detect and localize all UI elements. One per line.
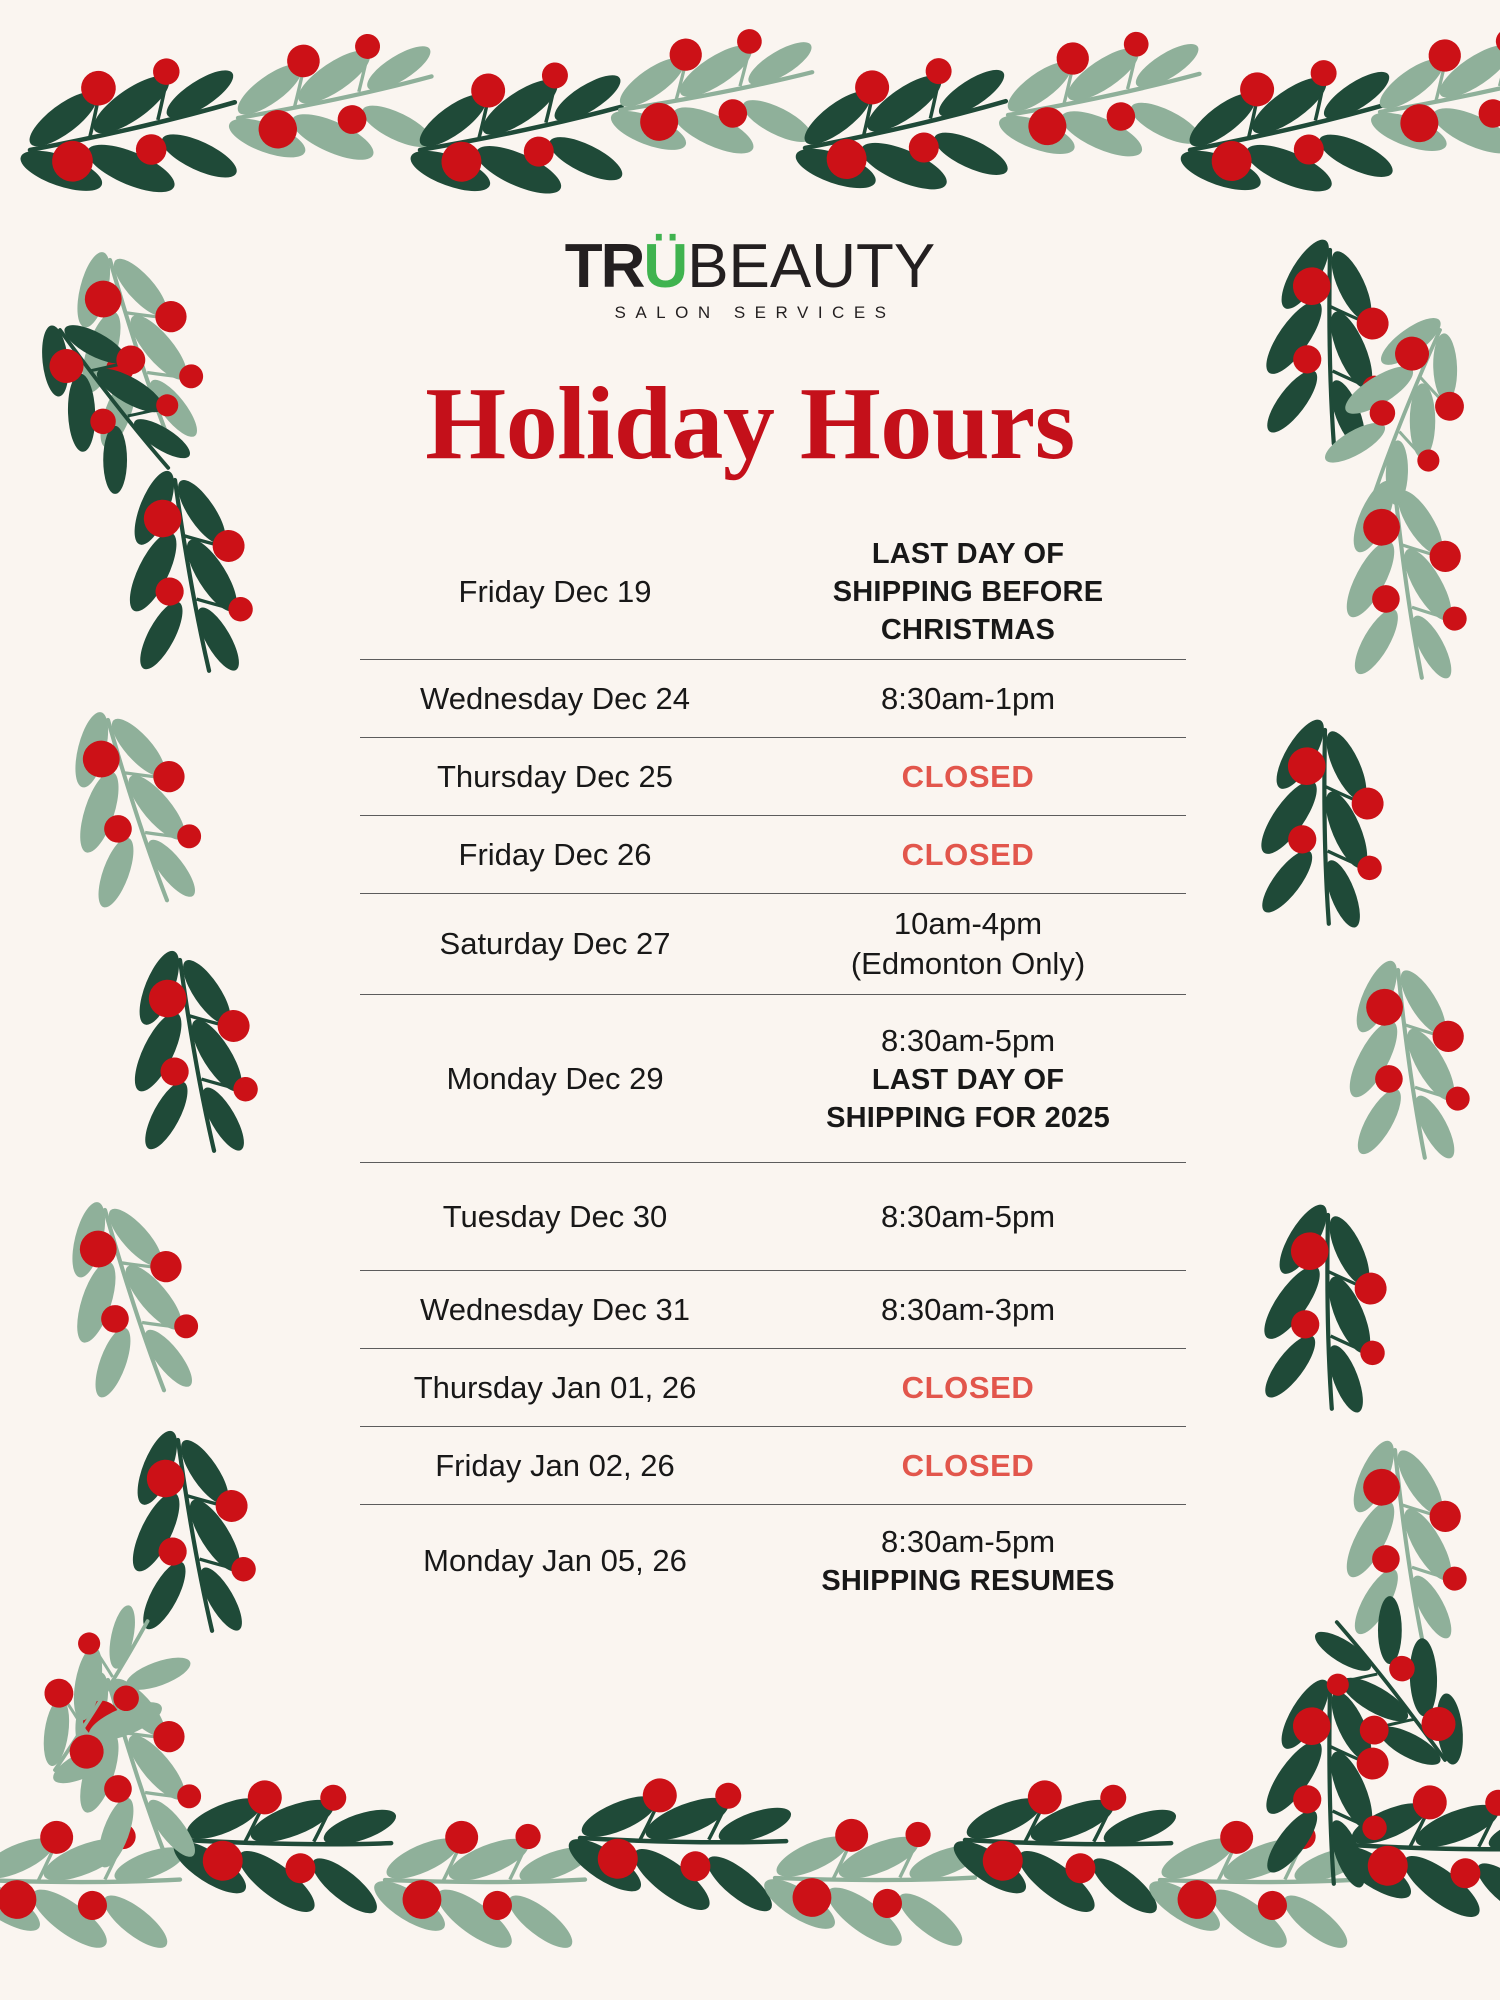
row-hours-value: 8:30am-1pm — [750, 669, 1186, 729]
row-hours-line: 8:30am-1pm — [750, 679, 1186, 719]
logo-text-tr: TR — [565, 232, 644, 301]
table-row: Tuesday Dec 30 8:30am-5pm — [360, 1163, 1186, 1271]
row-note-line: LAST DAY OF — [750, 1061, 1186, 1099]
row-day-label: Wednesday Dec 24 — [360, 675, 750, 723]
row-hours-value: LAST DAY OF SHIPPING BEFORE CHRISTMAS — [750, 525, 1186, 659]
row-note-line: SHIPPING FOR 2025 — [750, 1099, 1186, 1137]
brand-logo: TRÜBEAUTY SALON SERVICES — [0, 236, 1500, 323]
row-note-line: SHIPPING RESUMES — [750, 1562, 1186, 1600]
table-row: Friday Dec 26 CLOSED — [360, 816, 1186, 894]
page-title: Holiday Hours — [0, 372, 1500, 476]
row-hours-line: 10am-4pm — [750, 904, 1186, 944]
row-status-closed: CLOSED — [750, 747, 1186, 807]
row-hours-line: (Edmonton Only) — [750, 944, 1186, 984]
row-hours-line: 8:30am-5pm — [750, 1197, 1186, 1237]
row-day-label: Thursday Jan 01, 26 — [360, 1364, 750, 1412]
row-hours-line: CLOSED — [750, 1368, 1186, 1408]
row-note-line: LAST DAY OF — [750, 535, 1186, 573]
row-day-label: Monday Dec 29 — [360, 1055, 750, 1103]
logo-text-beauty: BEAUTY — [687, 232, 935, 301]
row-status-closed: CLOSED — [750, 1358, 1186, 1418]
table-row: Saturday Dec 27 10am-4pm (Edmonton Only) — [360, 894, 1186, 995]
row-hours-line: CLOSED — [750, 1446, 1186, 1486]
row-hours-value: 8:30am-3pm — [750, 1280, 1186, 1340]
row-note-line: CHRISTMAS — [750, 611, 1186, 649]
logo-tagline: SALON SERVICES — [0, 303, 1500, 323]
table-row: Wednesday Dec 31 8:30am-3pm — [360, 1271, 1186, 1349]
row-hours-value: 8:30am-5pm — [750, 1187, 1186, 1247]
table-row: Friday Jan 02, 26 CLOSED — [360, 1427, 1186, 1505]
row-hours-line: CLOSED — [750, 757, 1186, 797]
row-hours-line: 8:30am-5pm — [750, 1021, 1186, 1061]
row-day-label: Saturday Dec 27 — [360, 920, 750, 968]
row-day-label: Wednesday Dec 31 — [360, 1286, 750, 1334]
table-row: Monday Dec 29 8:30am-5pm LAST DAY OF SHI… — [360, 995, 1186, 1163]
table-row: Friday Dec 19 LAST DAY OF SHIPPING BEFOR… — [360, 525, 1186, 660]
row-hours-line: CLOSED — [750, 835, 1186, 875]
row-hours-line: 8:30am-5pm — [750, 1522, 1186, 1562]
holiday-hours-table: Friday Dec 19 LAST DAY OF SHIPPING BEFOR… — [360, 525, 1186, 1617]
table-row: Thursday Jan 01, 26 CLOSED — [360, 1349, 1186, 1427]
row-day-label: Monday Jan 05, 26 — [360, 1537, 750, 1585]
holiday-hours-poster: TRÜBEAUTY SALON SERVICES Holiday Hours F… — [0, 0, 1500, 2000]
row-hours-value: 8:30am-5pm SHIPPING RESUMES — [750, 1512, 1186, 1610]
row-note-line: SHIPPING BEFORE — [750, 573, 1186, 611]
row-day-label: Friday Jan 02, 26 — [360, 1442, 750, 1490]
table-row: Monday Jan 05, 26 8:30am-5pm SHIPPING RE… — [360, 1505, 1186, 1617]
row-day-label: Friday Dec 26 — [360, 831, 750, 879]
row-day-label: Thursday Dec 25 — [360, 753, 750, 801]
table-row: Wednesday Dec 24 8:30am-1pm — [360, 660, 1186, 738]
row-hours-value: 8:30am-5pm LAST DAY OF SHIPPING FOR 2025 — [750, 1011, 1186, 1147]
row-status-closed: CLOSED — [750, 1436, 1186, 1496]
row-day-label: Tuesday Dec 30 — [360, 1193, 750, 1241]
logo-text-u-umlaut: Ü — [643, 236, 687, 298]
row-status-closed: CLOSED — [750, 825, 1186, 885]
table-row: Thursday Dec 25 CLOSED — [360, 738, 1186, 816]
row-hours-value: 10am-4pm (Edmonton Only) — [750, 894, 1186, 994]
row-day-label: Friday Dec 19 — [360, 568, 750, 616]
logo-wordmark: TRÜBEAUTY — [565, 236, 936, 298]
row-hours-line: 8:30am-3pm — [750, 1290, 1186, 1330]
